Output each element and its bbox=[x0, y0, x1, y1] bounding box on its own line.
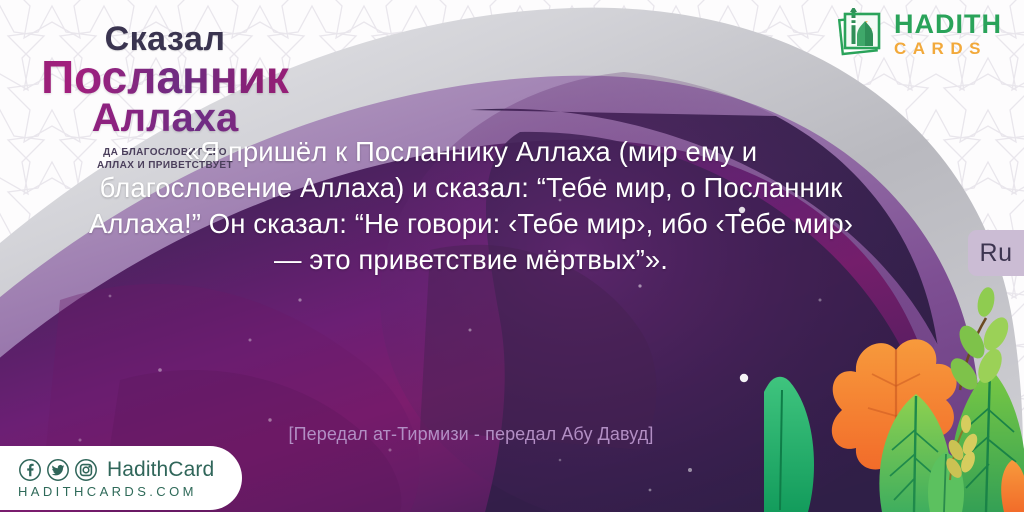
footer-branding-pill: HadithCard HADITHCARDS.COM bbox=[0, 446, 242, 510]
instagram-icon[interactable] bbox=[74, 458, 98, 482]
footer-brand-name: HadithCard bbox=[107, 458, 214, 482]
logo-cards-text: CARDS bbox=[894, 40, 1002, 57]
logo-hadith-text: HADITH bbox=[894, 11, 1002, 38]
language-badge-label: Ru bbox=[980, 239, 1013, 268]
mosque-icon bbox=[835, 8, 887, 60]
logo-wordmark: HADITH CARDS bbox=[894, 11, 1002, 57]
footer-website[interactable]: HADITHCARDS.COM bbox=[18, 484, 242, 499]
language-badge[interactable]: Ru bbox=[968, 230, 1024, 276]
hadith-card: Ru Сказал Посланник Аллаха ДА БЛАГОСЛОВИ… bbox=[0, 0, 1024, 512]
hadith-cards-logo[interactable]: HADITH CARDS bbox=[835, 8, 1002, 60]
facebook-icon[interactable] bbox=[18, 458, 42, 482]
footer-social-row: HadithCard bbox=[18, 458, 242, 482]
heading-line-2: Посланник bbox=[0, 54, 330, 101]
hadith-quote-text: «Я пришёл к Посланнику Аллаха (мир ему и… bbox=[86, 134, 856, 278]
foliage-illustration bbox=[764, 282, 1024, 512]
twitter-icon[interactable] bbox=[46, 458, 70, 482]
heading-line-3: Аллаха bbox=[0, 97, 330, 139]
hadith-attribution: [Передал ат-Тирмизи - передал Абу Давуд] bbox=[86, 424, 856, 445]
